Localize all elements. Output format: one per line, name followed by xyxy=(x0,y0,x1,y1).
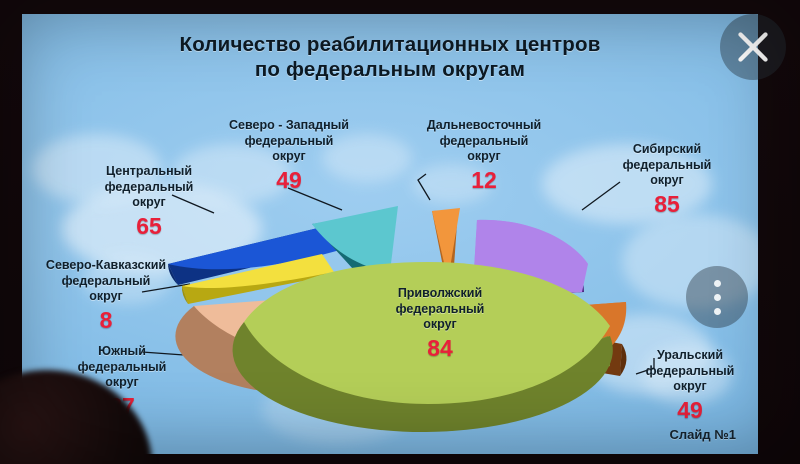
callout-north-west-line-3: округ xyxy=(272,149,306,163)
callout-central-line-2: федеральный xyxy=(105,180,194,194)
slide-number: Слайд №1 xyxy=(670,427,736,442)
callout-volga-value: 84 xyxy=(352,335,528,362)
kebab-dot-3 xyxy=(714,308,721,315)
callout-far-east-line-1: Дальневосточный xyxy=(427,118,541,132)
callout-far-east: Дальневосточный федеральный округ 12 xyxy=(394,118,574,194)
callout-volga-line-1: Приволжский xyxy=(398,286,482,300)
projected-slide-screen: Количество реабилитационных центров по ф… xyxy=(0,0,800,464)
callout-siberia-line-1: Сибирский xyxy=(633,142,701,156)
callout-far-east-line-2: федеральный xyxy=(440,134,529,148)
callout-central-line-3: округ xyxy=(132,195,166,209)
callout-north-caucasus-line-1: Северо-Кавказский xyxy=(46,258,166,272)
callout-far-east-line-3: округ xyxy=(467,149,501,163)
callout-north-caucasus-line-3: округ xyxy=(89,289,123,303)
callout-ural-line-3: округ xyxy=(673,379,707,393)
callout-central-value: 65 xyxy=(68,213,230,240)
callout-siberia-line-3: округ xyxy=(650,173,684,187)
callout-ural: Уральский федеральный округ 49 xyxy=(622,348,758,424)
callout-south-line-2: федеральный xyxy=(78,360,167,374)
more-options-icon[interactable] xyxy=(686,266,748,328)
callout-central-line-1: Центральный xyxy=(106,164,192,178)
callout-south-line-3: округ xyxy=(105,375,139,389)
kebab-dot-2 xyxy=(714,294,721,301)
kebab-dot-1 xyxy=(714,280,721,287)
callout-volga-line-2: федеральный xyxy=(396,302,485,316)
callout-ural-line-1: Уральский xyxy=(657,348,723,362)
callout-siberia-value: 85 xyxy=(590,191,744,218)
callout-north-west-line-1: Северо - Западный xyxy=(229,118,349,132)
callout-ural-line-2: федеральный xyxy=(646,364,735,378)
callout-siberia-line-2: федеральный xyxy=(623,158,712,172)
callout-volga: Приволжский федеральный округ 84 xyxy=(352,286,528,362)
close-icon[interactable] xyxy=(720,14,786,80)
presentation-slide: Количество реабилитационных центров по ф… xyxy=(22,14,758,454)
callout-volga-line-3: округ xyxy=(423,317,457,331)
close-glyph xyxy=(733,27,773,67)
callout-north-caucasus: Северо-Кавказский федеральный округ 8 xyxy=(22,258,194,334)
callout-siberia: Сибирский федеральный округ 85 xyxy=(590,142,744,218)
callout-ural-value: 49 xyxy=(622,397,758,424)
callout-north-caucasus-line-2: федеральный xyxy=(62,274,151,288)
callout-north-west-line-2: федеральный xyxy=(245,134,334,148)
callout-far-east-value: 12 xyxy=(394,167,574,194)
callout-south-line-1: Южный xyxy=(98,344,146,358)
callout-north-caucasus-value: 8 xyxy=(22,307,194,334)
callout-central: Центральный федеральный округ 65 xyxy=(68,164,230,240)
